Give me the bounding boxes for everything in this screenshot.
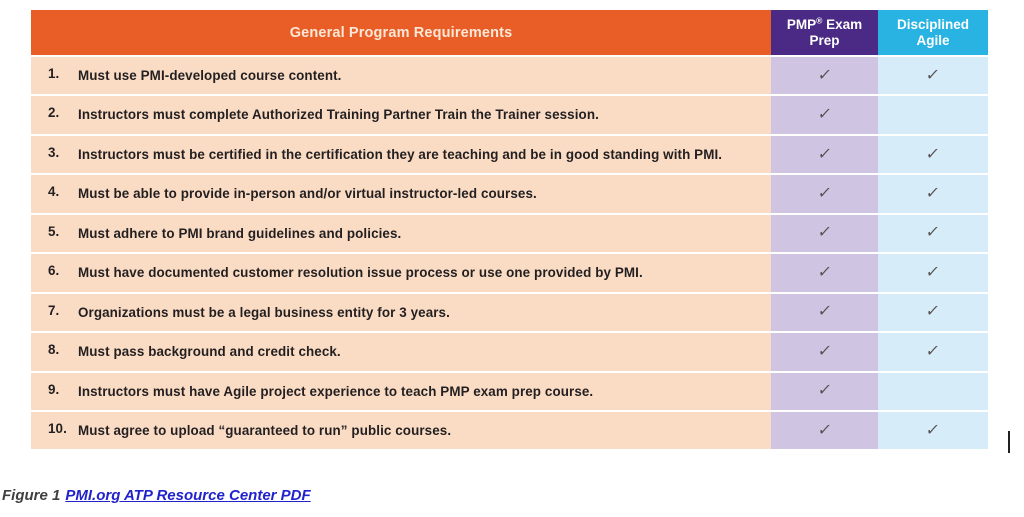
table-header-row: General Program Requirements PMP® Exam P… [31, 10, 988, 56]
requirement-number: 5. [31, 224, 78, 239]
pmp-check-cell: ✓ [771, 332, 878, 371]
table-header: General Program Requirements PMP® Exam P… [31, 10, 988, 56]
table-row: 6. Must have documented customer resolut… [31, 253, 988, 292]
column-header-disciplined-agile: Disciplined Agile [878, 10, 988, 56]
table-row: 8. Must pass background and credit check… [31, 332, 988, 371]
requirement-text: Must be able to provide in-person and/or… [78, 184, 757, 203]
checkmark-icon: ✓ [817, 264, 833, 280]
da-check-cell: ✓ [878, 253, 988, 292]
table-row: 9. Instructors must have Agile project e… [31, 372, 988, 411]
requirement-number: 7. [31, 303, 78, 318]
checkmark-icon: ✓ [817, 343, 833, 359]
pmp-check-cell: ✓ [771, 135, 878, 174]
requirement-cell: 2. Instructors must complete Authorized … [31, 95, 771, 134]
checkmark-icon: ✓ [817, 224, 833, 240]
checkmark-icon: ✓ [925, 224, 941, 240]
da-check-cell: ✓ [878, 174, 988, 213]
requirement-text: Must have documented customer resolution… [78, 263, 757, 282]
da-check-cell: ✓ [878, 332, 988, 371]
requirement-text: Must pass background and credit check. [78, 342, 757, 361]
requirement-cell: 8. Must pass background and credit check… [31, 332, 771, 371]
da-check-cell: ✓ [878, 214, 988, 253]
pmp-check-cell: ✓ [771, 214, 878, 253]
requirement-text: Must agree to upload “guaranteed to run”… [78, 421, 757, 440]
pmp-check-cell: ✓ [771, 372, 878, 411]
requirement-number: 1. [31, 66, 78, 81]
checkmark-icon: ✓ [925, 343, 941, 359]
figure-label: Figure 1 [2, 487, 60, 504]
checkmark-icon: ✓ [817, 185, 833, 201]
text-cursor-caret [1008, 431, 1010, 453]
requirement-text: Instructors must complete Authorized Tra… [78, 105, 757, 124]
checkmark-icon: ✓ [925, 67, 941, 83]
pmp-header-line1: PMP® Exam [787, 17, 862, 32]
pmp-check-cell: ✓ [771, 411, 878, 449]
da-check-cell: ✓ [878, 56, 988, 95]
requirement-item: 4. Must be able to provide in-person and… [31, 184, 757, 203]
checkmark-icon: ✓ [817, 303, 833, 319]
table-row: 7. Organizations must be a legal busines… [31, 293, 988, 332]
requirement-number: 10. [31, 421, 78, 436]
pmp-header-line2: Prep [809, 33, 839, 48]
table-row: 3. Instructors must be certified in the … [31, 135, 988, 174]
da-header-line2: Agile [916, 33, 949, 48]
checkmark-icon: ✓ [925, 264, 941, 280]
column-header-pmp-exam-prep: PMP® Exam Prep [771, 10, 878, 56]
checkmark-icon: ✓ [925, 146, 941, 162]
table-row: 4. Must be able to provide in-person and… [31, 174, 988, 213]
table-row: 2. Instructors must complete Authorized … [31, 95, 988, 134]
table-body: 1. Must use PMI-developed course content… [31, 56, 988, 449]
requirement-item: 10. Must agree to upload “guaranteed to … [31, 421, 757, 440]
pmp-check-cell: ✓ [771, 293, 878, 332]
requirement-text: Instructors must be certified in the cer… [78, 145, 757, 164]
requirement-cell: 10. Must agree to upload “guaranteed to … [31, 411, 771, 449]
requirement-item: 6. Must have documented customer resolut… [31, 263, 757, 282]
da-check-cell: ✓ [878, 293, 988, 332]
requirement-cell: 4. Must be able to provide in-person and… [31, 174, 771, 213]
da-check-cell: ✓ [878, 411, 988, 449]
requirement-item: 9. Instructors must have Agile project e… [31, 382, 757, 401]
requirement-text: Must adhere to PMI brand guidelines and … [78, 224, 757, 243]
requirements-table: General Program Requirements PMP® Exam P… [31, 10, 988, 449]
requirement-item: 2. Instructors must complete Authorized … [31, 105, 757, 124]
pmp-check-cell: ✓ [771, 253, 878, 292]
requirement-text: Organizations must be a legal business e… [78, 303, 757, 322]
pmp-header-text: PMP [787, 17, 816, 32]
checkmark-icon: ✓ [817, 146, 833, 162]
da-check-cell: ✓ [878, 135, 988, 174]
pmp-header-text-rest: Exam [822, 17, 862, 32]
checkmark-icon: ✓ [817, 382, 833, 398]
da-check-cell [878, 95, 988, 134]
pmp-check-cell: ✓ [771, 95, 878, 134]
requirement-number: 9. [31, 382, 78, 397]
figure-source-link[interactable]: PMI.org ATP Resource Center PDF [65, 487, 310, 504]
table-row: 10. Must agree to upload “guaranteed to … [31, 411, 988, 449]
requirement-item: 5. Must adhere to PMI brand guidelines a… [31, 224, 757, 243]
da-header-line1: Disciplined [897, 17, 969, 32]
requirement-cell: 9. Instructors must have Agile project e… [31, 372, 771, 411]
requirement-number: 4. [31, 184, 78, 199]
table-row: 5. Must adhere to PMI brand guidelines a… [31, 214, 988, 253]
checkmark-icon: ✓ [925, 303, 941, 319]
requirement-cell: 1. Must use PMI-developed course content… [31, 56, 771, 95]
requirement-item: 3. Instructors must be certified in the … [31, 145, 757, 164]
column-header-general-program-requirements: General Program Requirements [31, 10, 771, 56]
requirement-cell: 7. Organizations must be a legal busines… [31, 293, 771, 332]
requirement-item: 7. Organizations must be a legal busines… [31, 303, 757, 322]
requirement-number: 8. [31, 342, 78, 357]
figure-caption: Figure 1PMI.org ATP Resource Center PDF [2, 487, 311, 504]
checkmark-icon: ✓ [817, 67, 833, 83]
requirement-text: Must use PMI-developed course content. [78, 66, 757, 85]
requirement-cell: 6. Must have documented customer resolut… [31, 253, 771, 292]
requirement-number: 6. [31, 263, 78, 278]
requirement-text: Instructors must have Agile project expe… [78, 382, 757, 401]
requirements-table-container: General Program Requirements PMP® Exam P… [31, 10, 988, 449]
da-check-cell [878, 372, 988, 411]
requirement-item: 8. Must pass background and credit check… [31, 342, 757, 361]
checkmark-icon: ✓ [817, 106, 833, 122]
pmp-check-cell: ✓ [771, 56, 878, 95]
table-row: 1. Must use PMI-developed course content… [31, 56, 988, 95]
requirement-number: 3. [31, 145, 78, 160]
requirement-number: 2. [31, 105, 78, 120]
requirement-cell: 5. Must adhere to PMI brand guidelines a… [31, 214, 771, 253]
requirement-cell: 3. Instructors must be certified in the … [31, 135, 771, 174]
checkmark-icon: ✓ [817, 422, 833, 438]
requirement-item: 1. Must use PMI-developed course content… [31, 66, 757, 85]
checkmark-icon: ✓ [925, 185, 941, 201]
pmp-check-cell: ✓ [771, 174, 878, 213]
checkmark-icon: ✓ [925, 422, 941, 438]
